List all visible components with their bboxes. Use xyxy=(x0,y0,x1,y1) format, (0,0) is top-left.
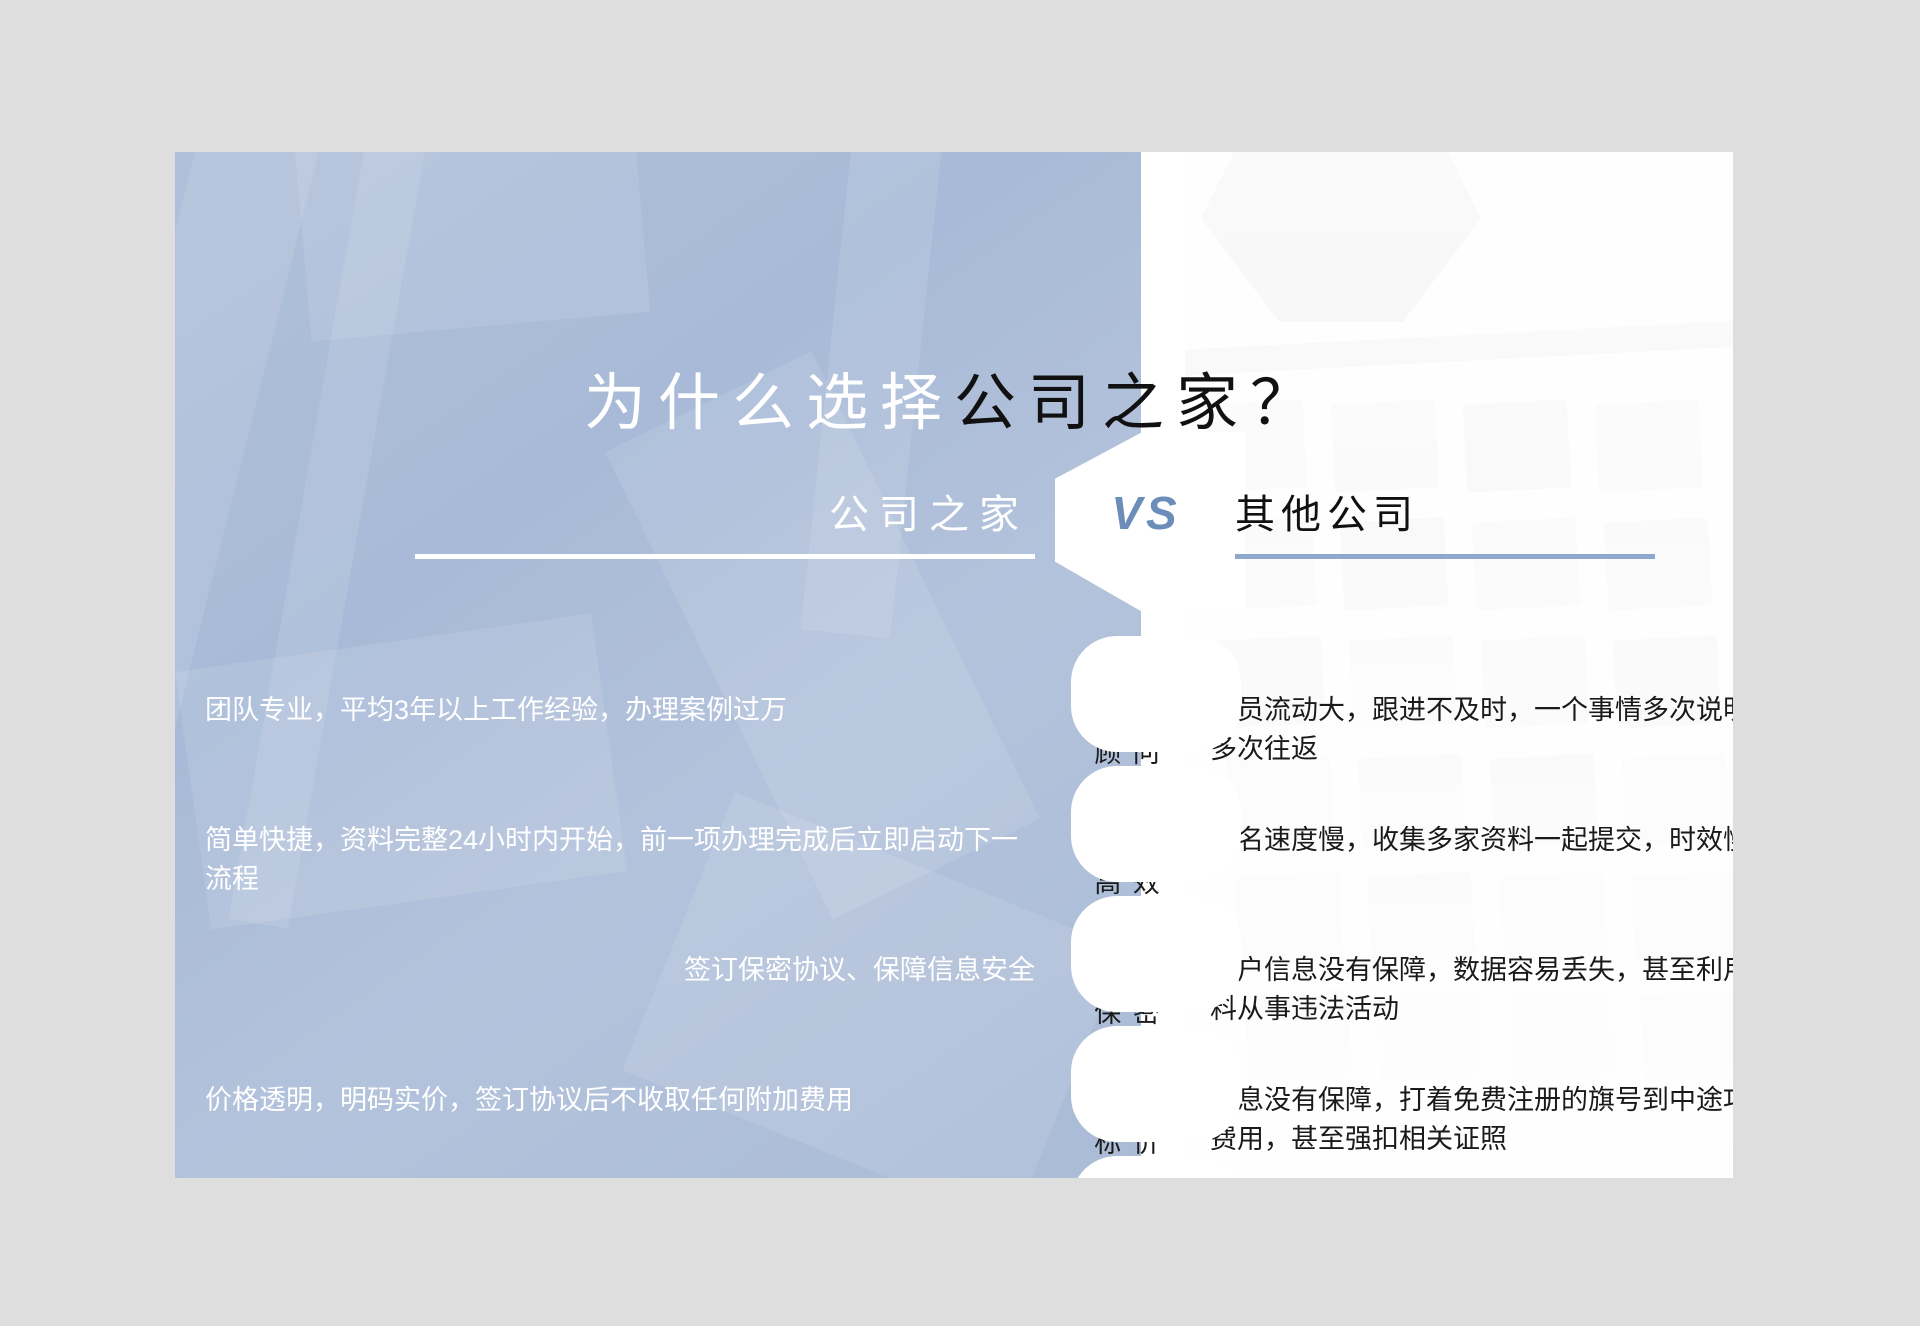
con-text: 人员流动大，跟进不及时，一个事情多次说明，一个文件多次往返 xyxy=(1210,691,1733,769)
category-pill xyxy=(1073,1026,1241,1142)
versus-left-underline xyxy=(415,554,1035,559)
comparison-row: 签订保密协议、保障信息安全信 息保 密客户信息没有保障，数据容易丢失，甚至利用客… xyxy=(175,890,1733,1020)
title-part-white: 为什么选择 xyxy=(584,369,954,438)
comparison-row: 简单快捷，资料完整24小时内开始，前一项办理完成后立即启动下一流程快 速高 效查… xyxy=(175,760,1733,890)
versus-right: 其他公司 xyxy=(1235,482,1655,559)
versus-header: 公司之家 VS 其他公司 xyxy=(175,482,1733,592)
category-pill xyxy=(1073,1156,1241,1178)
versus-right-underline xyxy=(1235,554,1655,559)
page-title: 为什么选择公司之家？ xyxy=(175,352,1733,442)
category-pill xyxy=(1073,636,1241,752)
category-pill xyxy=(1073,766,1241,882)
pro-text: 简单快捷，资料完整24小时内开始，前一项办理完成后立即启动下一流程 xyxy=(205,821,1035,899)
pro-text: 团队专业，平均3年以上工作经验，办理案例过万 xyxy=(205,691,1035,730)
con-text: 信息没有保障，打着免费注册的旗号到中途巧立名目收取费用，甚至强扣相关证照 xyxy=(1210,1081,1733,1159)
con-text: 客户信息没有保障，数据容易丢失，甚至利用客户证照资料从事违法活动 xyxy=(1210,951,1733,1029)
con-text: 查名速度慢，收集多家资料一起提交，时效慢 xyxy=(1210,821,1733,860)
versus-right-label: 其他公司 xyxy=(1235,482,1655,540)
comparison-slide: 为什么选择公司之家？ 公司之家 VS 其他公司 团队专业，平均3年以上工作经验，… xyxy=(175,152,1733,1178)
comparison-rows: 团队专业，平均3年以上工作经验，办理案例过万专 业顾 问人员流动大，跟进不及时，… xyxy=(175,630,1733,1178)
comparison-row: 价格透明，明码实价，签订协议后不收取任何附加费用明 码标 价信息没有保障，打着免… xyxy=(175,1020,1733,1150)
versus-left-label: 公司之家 xyxy=(415,482,1035,540)
pro-text: 价格透明，明码实价，签订协议后不收取任何附加费用 xyxy=(205,1081,1035,1120)
category-pill xyxy=(1073,896,1241,1012)
versus-left: 公司之家 xyxy=(415,482,1035,559)
comparison-row: 团队专业，平均3年以上工作经验，办理案例过万专 业顾 问人员流动大，跟进不及时，… xyxy=(175,630,1733,760)
versus-label: VS xyxy=(1081,486,1211,540)
comparison-row: 服务公开，根据合同严格操作，服务流程可视化透 明可 视无任何保障，明明是免费服务… xyxy=(175,1150,1733,1178)
title-part-dark: 公司之家？ xyxy=(954,369,1324,438)
pro-text: 签订保密协议、保障信息安全 xyxy=(205,951,1035,990)
